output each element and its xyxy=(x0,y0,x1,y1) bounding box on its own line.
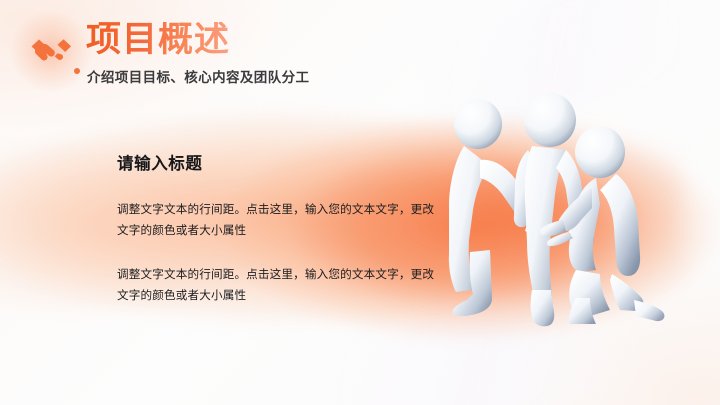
content-paragraph: 调整文字文本的行间距。点击这里，输入您的文本文字，更改文字的颜色或者大小属性 xyxy=(117,264,437,307)
header-accent-dot xyxy=(74,68,80,74)
page-subtitle: 介绍项目目标、核心内容及团队分工 xyxy=(87,66,309,86)
content-heading: 请输入标题 xyxy=(117,155,447,175)
handshake-icon xyxy=(29,32,73,66)
page-title: 项目概述 xyxy=(86,22,230,57)
three-figures-teamwork-illustration xyxy=(420,84,690,334)
content-paragraph: 调整文字文本的行间距。点击这里，输入您的文本文字，更改文字的颜色或者大小属性 xyxy=(117,199,437,242)
content-block: 请输入标题 调整文字文本的行间距。点击这里，输入您的文本文字，更改文字的颜色或者… xyxy=(117,155,447,307)
slide: 项目概述 介绍项目目标、核心内容及团队分工 请输入标题 调整文字文本的行间距。点… xyxy=(0,0,720,405)
